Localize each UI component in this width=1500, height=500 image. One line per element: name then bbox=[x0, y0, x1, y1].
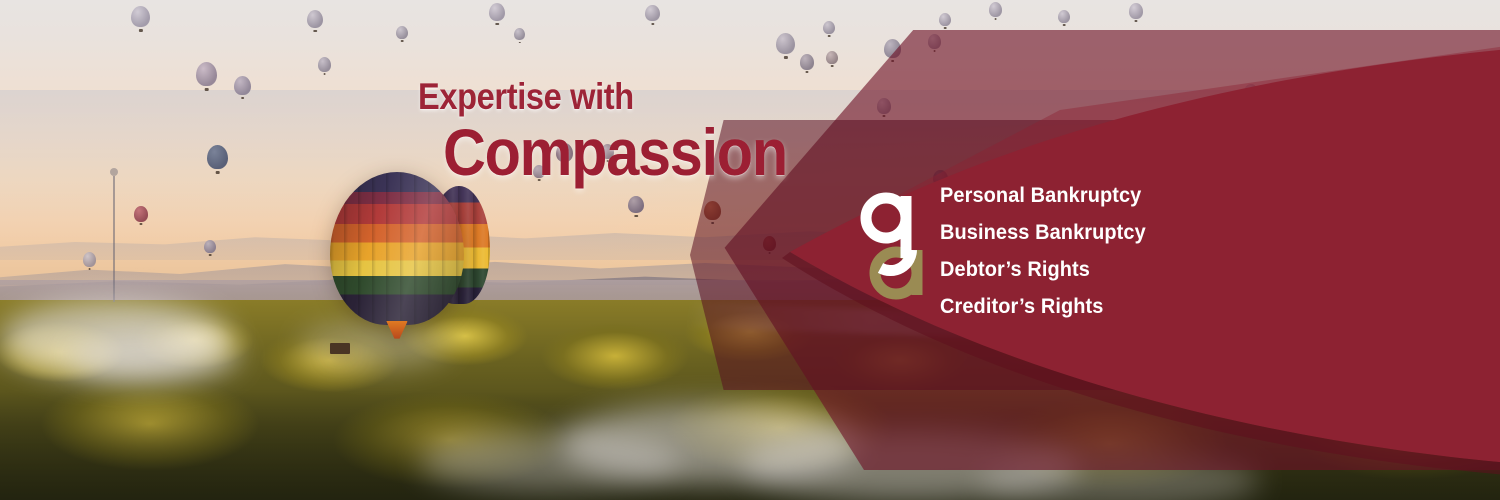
distant-balloon bbox=[234, 76, 251, 99]
balloon-basket bbox=[215, 171, 220, 174]
balloon-envelope bbox=[396, 26, 408, 39]
balloon-envelope bbox=[1129, 3, 1143, 19]
balloon-envelope bbox=[83, 252, 96, 267]
distant-balloon bbox=[207, 145, 228, 174]
distant-balloon bbox=[196, 62, 217, 91]
balloon-basket bbox=[1134, 20, 1137, 22]
balloon-envelope bbox=[514, 28, 525, 40]
balloon-basket bbox=[313, 30, 317, 32]
balloon-envelope bbox=[307, 10, 323, 28]
distant-balloon bbox=[1129, 3, 1143, 22]
distant-balloon bbox=[514, 28, 525, 43]
foreground-balloon bbox=[330, 172, 464, 368]
balloon-basket bbox=[138, 29, 142, 32]
balloon-envelope bbox=[207, 145, 228, 169]
distant-balloon bbox=[83, 252, 96, 270]
balloon-basket bbox=[495, 23, 499, 25]
balloon-basket bbox=[518, 42, 520, 44]
balloon-envelope bbox=[134, 206, 148, 222]
list-item[interactable]: Creditor’s Rights bbox=[940, 296, 1146, 317]
radio-tower bbox=[113, 176, 115, 302]
distant-balloon bbox=[131, 6, 150, 32]
balloon-basket bbox=[241, 97, 245, 99]
distant-balloon bbox=[628, 196, 644, 217]
distant-balloon bbox=[318, 57, 331, 75]
balloon-envelope bbox=[131, 6, 150, 27]
list-item[interactable]: Business Bankruptcy bbox=[940, 222, 1146, 243]
distant-balloon bbox=[134, 206, 148, 225]
balloon-shading bbox=[330, 172, 464, 325]
balloon-envelope bbox=[628, 196, 644, 213]
balloon-basket bbox=[323, 73, 326, 75]
balloon-basket bbox=[634, 215, 638, 217]
list-item[interactable]: Personal Bankruptcy bbox=[940, 185, 1146, 206]
practice-areas-list: Personal Bankruptcy Business Bankruptcy … bbox=[940, 185, 1157, 317]
distant-balloon bbox=[645, 5, 660, 25]
distant-balloon bbox=[489, 3, 505, 25]
list-item[interactable]: Debtor’s Rights bbox=[940, 259, 1146, 280]
balloon-basket bbox=[204, 88, 209, 91]
balloon-basket bbox=[401, 40, 404, 42]
headline-line-2: Compassion bbox=[443, 119, 787, 185]
headline-line-1: Expertise with bbox=[418, 78, 776, 115]
balloon-envelope bbox=[645, 5, 660, 21]
balloon-envelope bbox=[234, 76, 251, 95]
distant-balloon bbox=[307, 10, 323, 32]
balloon-basket bbox=[994, 18, 997, 20]
balloon-basket bbox=[209, 254, 212, 256]
balloon-basket bbox=[651, 23, 654, 25]
logo-monogram-ga[interactable] bbox=[860, 188, 932, 314]
balloon-envelope bbox=[204, 240, 216, 253]
page-title: Expertise with Compassion bbox=[418, 78, 825, 185]
distant-balloon bbox=[204, 240, 216, 256]
balloon-throat bbox=[386, 321, 407, 339]
balloon-basket bbox=[88, 268, 91, 270]
balloon-envelope bbox=[318, 57, 331, 72]
balloon-envelope bbox=[196, 62, 217, 86]
balloon-rigging bbox=[330, 325, 362, 343]
balloon-envelope bbox=[1058, 10, 1070, 23]
logo-letter-g-icon bbox=[866, 196, 912, 271]
balloon-envelope bbox=[489, 3, 505, 21]
mist-plume bbox=[420, 432, 680, 492]
hero-banner: Expertise with Compassion Personal Bankr… bbox=[0, 0, 1500, 500]
distant-balloon bbox=[396, 26, 408, 42]
balloon-basket bbox=[330, 343, 350, 355]
mist-plume bbox=[70, 330, 240, 382]
balloon-basket bbox=[139, 223, 142, 225]
balloon-envelope bbox=[989, 2, 1002, 17]
distant-balloon bbox=[989, 2, 1002, 20]
